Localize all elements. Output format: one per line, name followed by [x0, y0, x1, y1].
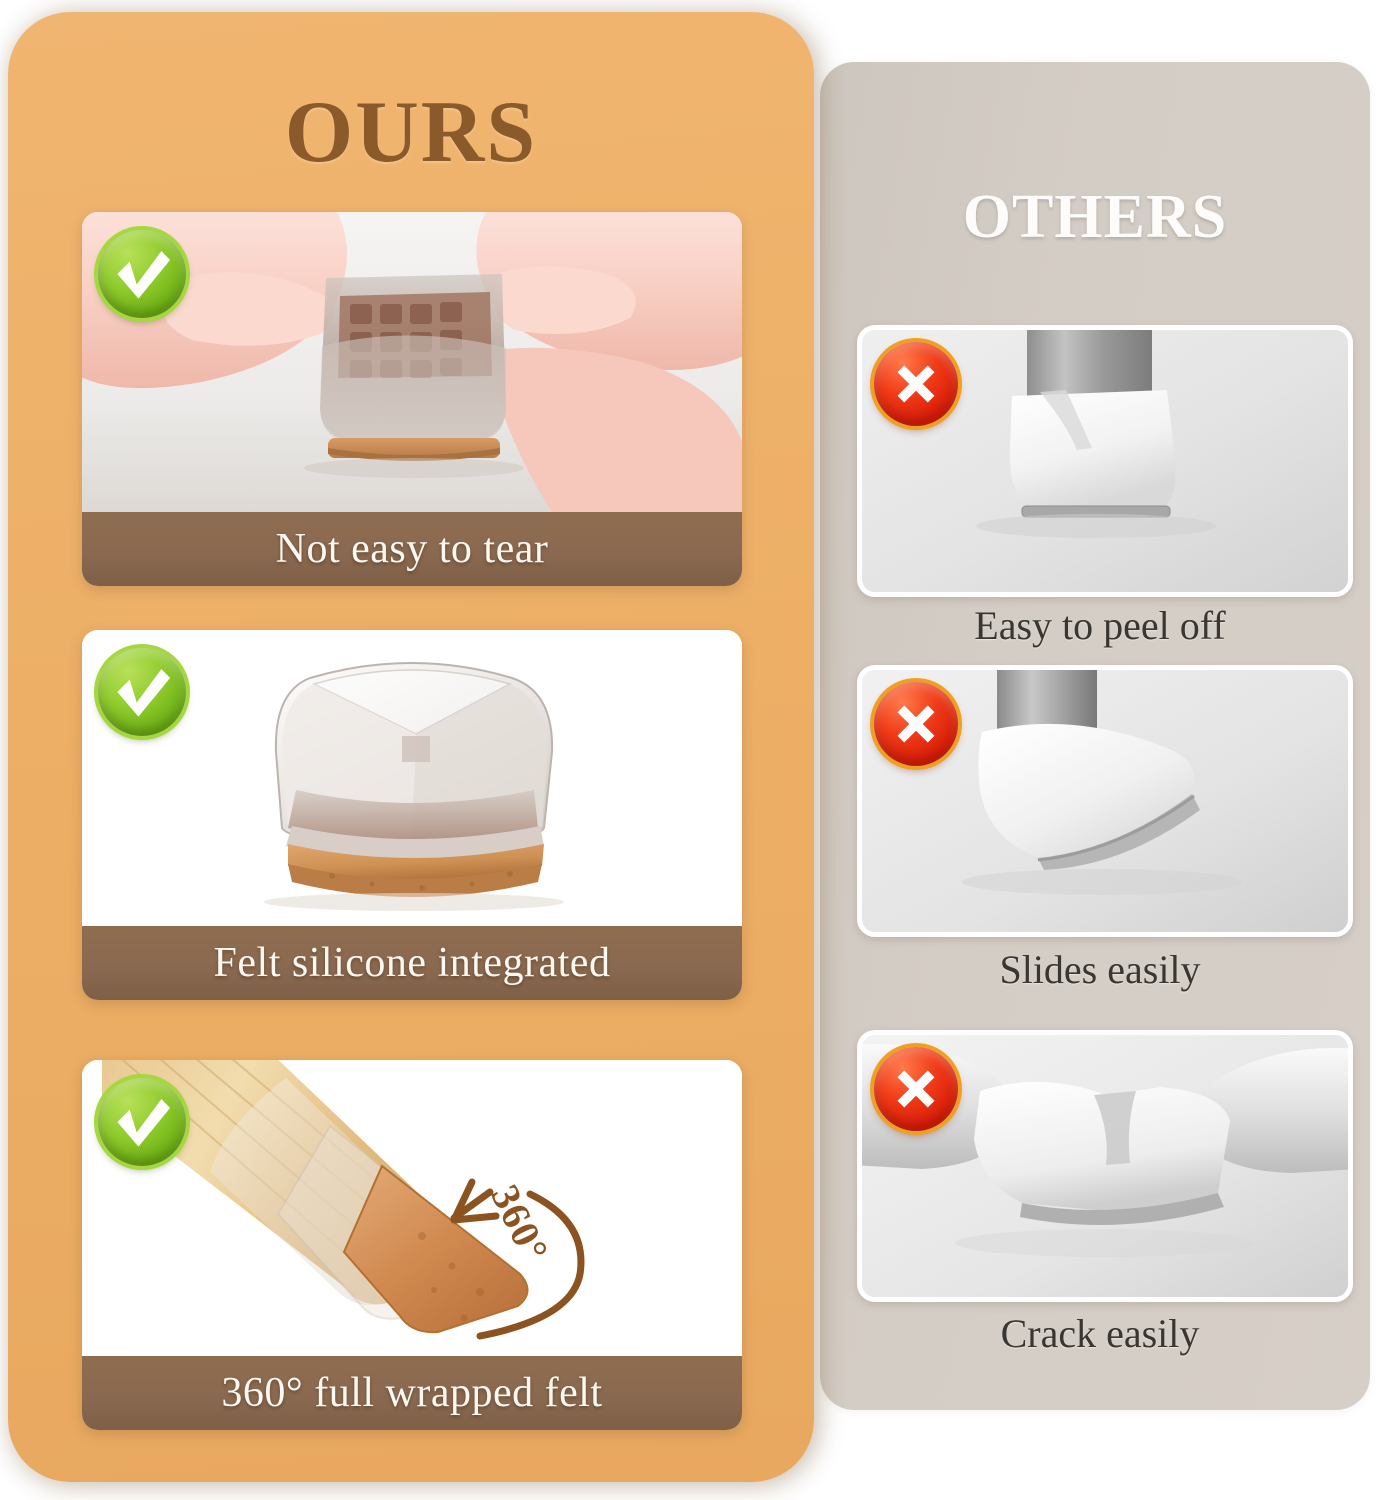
- ours-caption-3: 360° full wrapped felt: [221, 1369, 602, 1417]
- green-check-badge: [98, 230, 186, 318]
- ours-card-2[interactable]: Felt silicone integrated: [82, 630, 742, 1000]
- comparison-infographic: OTHERS: [0, 0, 1386, 1500]
- red-x-badge: [874, 1047, 958, 1131]
- ours-caption-bar-1: Not easy to tear: [82, 512, 742, 586]
- ours-caption-1: Not easy to tear: [276, 525, 549, 573]
- others-title: OTHERS: [820, 182, 1370, 253]
- green-check-badge: [98, 1078, 186, 1166]
- ours-caption-bar-2: Felt silicone integrated: [82, 926, 742, 1000]
- others-caption-1: Easy to peel off: [857, 602, 1343, 649]
- ours-caption-2: Felt silicone integrated: [214, 939, 611, 987]
- ours-title: OURS: [8, 82, 814, 183]
- others-card-1[interactable]: [857, 325, 1353, 597]
- red-x-badge: [874, 342, 958, 426]
- others-caption-3: Crack easily: [857, 1310, 1343, 1357]
- others-caption-2: Slides easily: [857, 946, 1343, 993]
- red-x-badge: [874, 682, 958, 766]
- others-card-3[interactable]: [857, 1030, 1353, 1302]
- ours-caption-bar-3: 360° full wrapped felt: [82, 1356, 742, 1430]
- ours-card-3[interactable]: 360° 360° full wrapped felt: [82, 1060, 742, 1430]
- ours-card-1[interactable]: Not easy to tear: [82, 212, 742, 586]
- green-check-badge: [98, 648, 186, 736]
- others-card-2[interactable]: [857, 665, 1353, 937]
